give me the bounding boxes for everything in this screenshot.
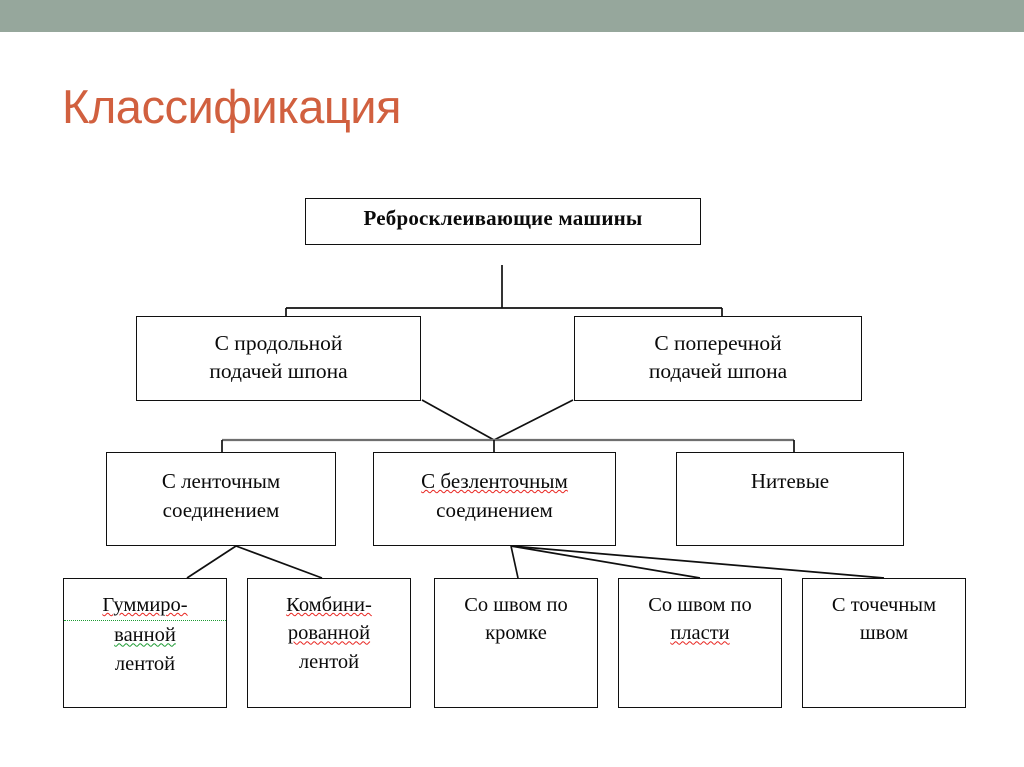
node-edge-seam-line2: кромке [435,619,597,647]
edge-tape-to-gummed [187,546,236,578]
edge-l2right-to-junction [494,400,573,440]
node-gummed-tape-line1: Гуммиро- [64,591,226,621]
node-spot-seam-line1: С точечным [803,591,965,619]
node-spot-seam-line2: швом [803,619,965,647]
node-longitudinal-feed[interactable]: С продольной подачей шпона [136,316,421,401]
node-longitudinal-feed-line2: подачей шпона [137,357,420,385]
node-combined-tape-line2: рованной [248,619,410,647]
node-root-label: Ребросклеивающие машины [306,206,700,231]
page-title: Классификация [62,82,401,131]
node-tapeless-joint-line2: соединением [374,496,615,525]
node-edge-seam[interactable]: Со швом по кромке [434,578,598,708]
node-transverse-feed-line2: подачей шпона [575,357,861,385]
node-transverse-feed-line1: С поперечной [575,329,861,357]
node-combined-tape[interactable]: Комбини- рованной лентой [247,578,411,708]
edge-notape-to-spot [511,546,884,578]
edge-tape-to-combined [236,546,322,578]
node-tapeless-joint[interactable]: С безленточным соединением [373,452,616,546]
slide-canvas: Классификация Ребросклеивающ [0,0,1024,767]
node-face-seam[interactable]: Со швом по пласти [618,578,782,708]
edge-notape-to-face [511,546,700,578]
edge-l2left-to-junction [422,400,494,440]
node-edge-seam-line1: Со швом по [435,591,597,619]
node-gummed-tape[interactable]: Гуммиро- ванной лентой [63,578,227,708]
node-tape-joint-line1: С ленточным [107,467,335,496]
node-face-seam-line2: пласти [619,619,781,647]
node-gummed-tape-line3: лентой [64,650,226,678]
node-gummed-tape-line2: ванной [64,621,226,649]
slide-top-band [0,0,1024,32]
node-root[interactable]: Ребросклеивающие машины [305,198,701,245]
node-combined-tape-line3: лентой [248,648,410,676]
node-combined-tape-line1: Комбини- [248,591,410,619]
node-transverse-feed[interactable]: С поперечной подачей шпона [574,316,862,401]
node-tapeless-joint-line1: С безленточным [374,467,615,496]
node-longitudinal-feed-line1: С продольной [137,329,420,357]
node-thread-type-line1: Нитевые [677,467,903,496]
node-face-seam-line1: Со швом по [619,591,781,619]
edge-notape-to-edge [511,546,518,578]
node-spot-seam[interactable]: С точечным швом [802,578,966,708]
node-tape-joint[interactable]: С ленточным соединением [106,452,336,546]
node-tape-joint-line2: соединением [107,496,335,525]
node-thread-type[interactable]: Нитевые [676,452,904,546]
